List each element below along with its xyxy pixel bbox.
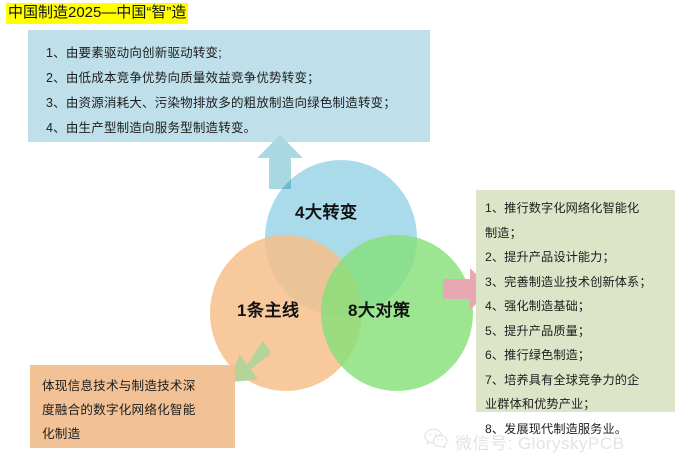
right-box-line: 4、强化制造基础；: [485, 294, 668, 319]
right-box-line: 3、完善制造业技术创新体系；: [485, 270, 668, 295]
page-title: 中国制造2025—中国“智”造: [6, 3, 188, 24]
venn-label-right: 8大对策: [348, 296, 410, 321]
top-box-line: 2、由低成本竞争优势向质量效益竞争优势转变；: [46, 66, 416, 91]
right-box-line: 7、培养具有全球竞争力的企: [485, 368, 668, 393]
bottom-box-line: 度融合的数字化网络化智能: [42, 398, 229, 422]
right-box-line: 6、推行绿色制造；: [485, 343, 668, 368]
right-measures-box: 1、推行数字化网络化智能化 制造； 2、提升产品设计能力； 3、完善制造业技术创…: [476, 190, 675, 412]
top-box-line: 3、由资源消耗大、污染物排放多的粗放制造向绿色制造转变；: [46, 91, 416, 116]
right-box-line: 5、提升产品质量；: [485, 319, 668, 344]
right-box-line: 1、推行数字化网络化智能化: [485, 196, 668, 221]
right-box-line: 制造；: [485, 221, 668, 246]
bottom-box-line: 体现信息技术与制造技术深: [42, 374, 229, 398]
wechat-icon: [424, 428, 448, 454]
top-transformations-box: 1、由要素驱动向创新驱动转变; 2、由低成本竞争优势向质量效益竞争优势转变； 3…: [28, 30, 430, 142]
top-box-line: 1、由要素驱动向创新驱动转变;: [46, 41, 416, 66]
venn-label-top: 4大转变: [295, 198, 357, 223]
right-box-line: 2、提升产品设计能力；: [485, 245, 668, 270]
top-box-line: 4、由生产型制造向服务型制造转变。: [46, 116, 416, 141]
watermark: 微信号: GloryskyPCB: [424, 428, 625, 454]
bottom-mainline-box: 体现信息技术与制造技术深 度融合的数字化网络化智能 化制造: [30, 365, 235, 448]
right-box-line: 业群体和优势产业；: [485, 392, 668, 417]
watermark-text: 微信号: GloryskyPCB: [455, 429, 625, 454]
venn-label-left: 1条主线: [237, 296, 299, 321]
bottom-box-line: 化制造: [42, 422, 229, 446]
page-title-text: 中国制造2025—中国“智”造: [6, 3, 188, 24]
slide-canvas: 中国制造2025—中国“智”造 1、由要素驱动向创新驱动转变; 2、由低成本竞争…: [0, 0, 680, 470]
